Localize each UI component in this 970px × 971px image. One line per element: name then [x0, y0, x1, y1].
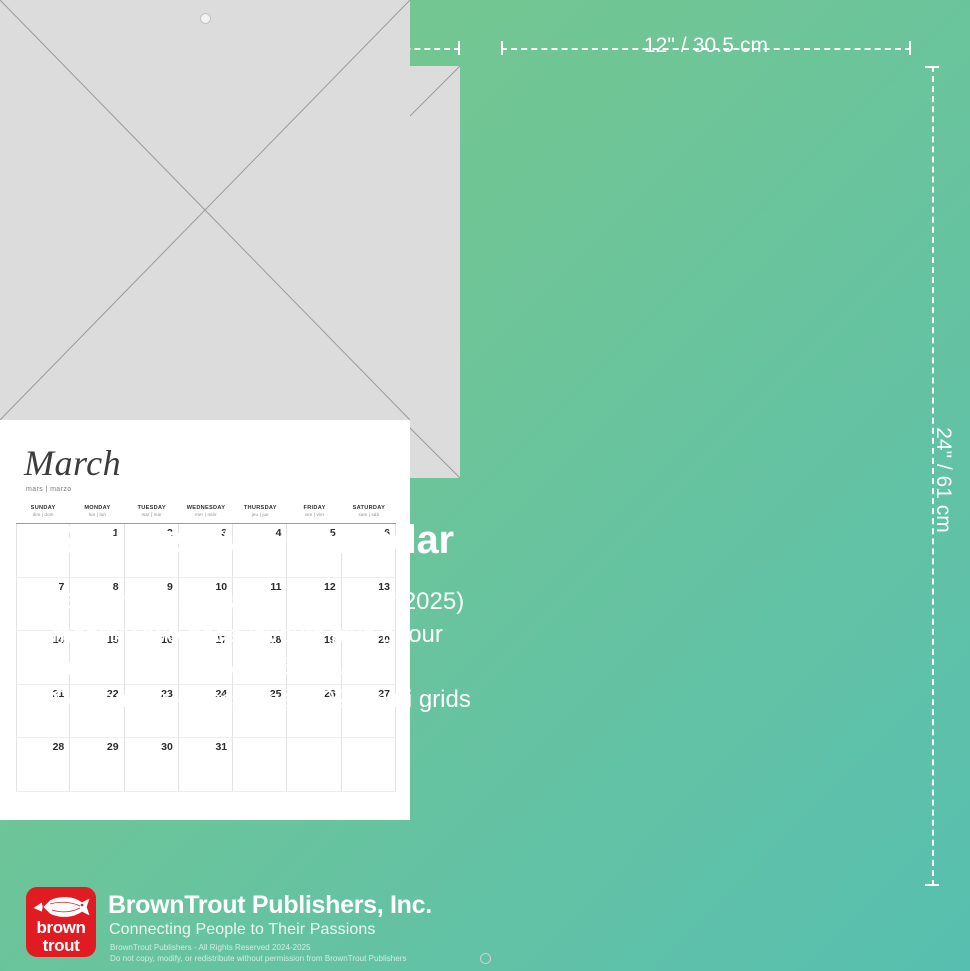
copyright-line-2: Do not copy, modify, or redistribute wit… — [110, 954, 407, 965]
day-header-name: TUESDAY — [125, 505, 179, 511]
dimension-right-vertical-label: 24" / 61 cm — [931, 380, 955, 580]
logo-word-trout: trout — [31, 937, 91, 954]
copyright-line-1: BrownTrout Publishers - All Rights Reser… — [110, 943, 407, 954]
image-placeholder-right — [0, 0, 410, 420]
dimension-top-right-label: 12" / 30.5 cm — [632, 34, 780, 58]
day-header-translations: dim | dom — [16, 512, 70, 517]
day-header-name: THURSDAY — [233, 505, 287, 511]
day-header-name: SUNDAY — [16, 505, 70, 511]
day-header-translations: jeu | jue — [233, 512, 287, 517]
product-headline: Square Wall Calendar — [50, 518, 454, 563]
day-header-translations: mar | mar — [125, 512, 179, 517]
calendar-day-cell[interactable]: 31 — [179, 738, 233, 792]
calendar-day-cell[interactable] — [233, 738, 287, 792]
calendar-month-translations: mars | marzo — [26, 486, 72, 493]
day-header-translations: sam | sáb — [342, 512, 396, 517]
calendar-day-cell[interactable]: 29 — [70, 738, 124, 792]
calendar-month-title: March — [24, 442, 121, 484]
day-header-name: WEDNESDAY — [179, 505, 233, 511]
day-header-name: MONDAY — [70, 505, 124, 511]
publisher-name: BrownTrout Publishers, Inc. — [108, 891, 432, 920]
browntrout-logo: brown trout — [26, 887, 96, 957]
publisher-tagline: Connecting People to Their Passions — [109, 921, 375, 939]
calendar-day-cell[interactable] — [342, 738, 396, 792]
copyright-notice: BrownTrout Publishers - All Rights Reser… — [110, 943, 407, 964]
day-header-translations: lun | lun — [70, 512, 124, 517]
product-mockup-stage: 12" / 30.5 cm 12" / 30.5 cm 12" / 30.5 c… — [0, 0, 970, 971]
day-header-name: FRIDAY — [287, 505, 341, 511]
trout-fish-icon — [30, 894, 92, 920]
hole-punch-icon — [200, 13, 211, 24]
logo-word-brown: brown — [31, 919, 91, 936]
calendar-day-cell[interactable] — [287, 738, 341, 792]
publisher-footer: brown trout BrownTrout Publishers, Inc. … — [26, 887, 546, 963]
product-description: 16 months (January - December 2025) mont… — [52, 586, 502, 717]
calendar-day-number: 29 — [107, 741, 119, 753]
day-header-translations: mer | miér — [179, 512, 233, 517]
calendar-day-cell[interactable]: 28 — [16, 738, 70, 792]
day-header-translations: ven | vier — [287, 512, 341, 517]
calendar-day-number: 30 — [161, 741, 173, 753]
day-header-name: SATURDAY — [342, 505, 396, 511]
calendar-day-cell[interactable]: 30 — [125, 738, 179, 792]
calendar-day-number: 31 — [215, 741, 227, 753]
placeholder-cross-icon — [0, 0, 410, 420]
calendar-day-number: 28 — [53, 741, 65, 753]
